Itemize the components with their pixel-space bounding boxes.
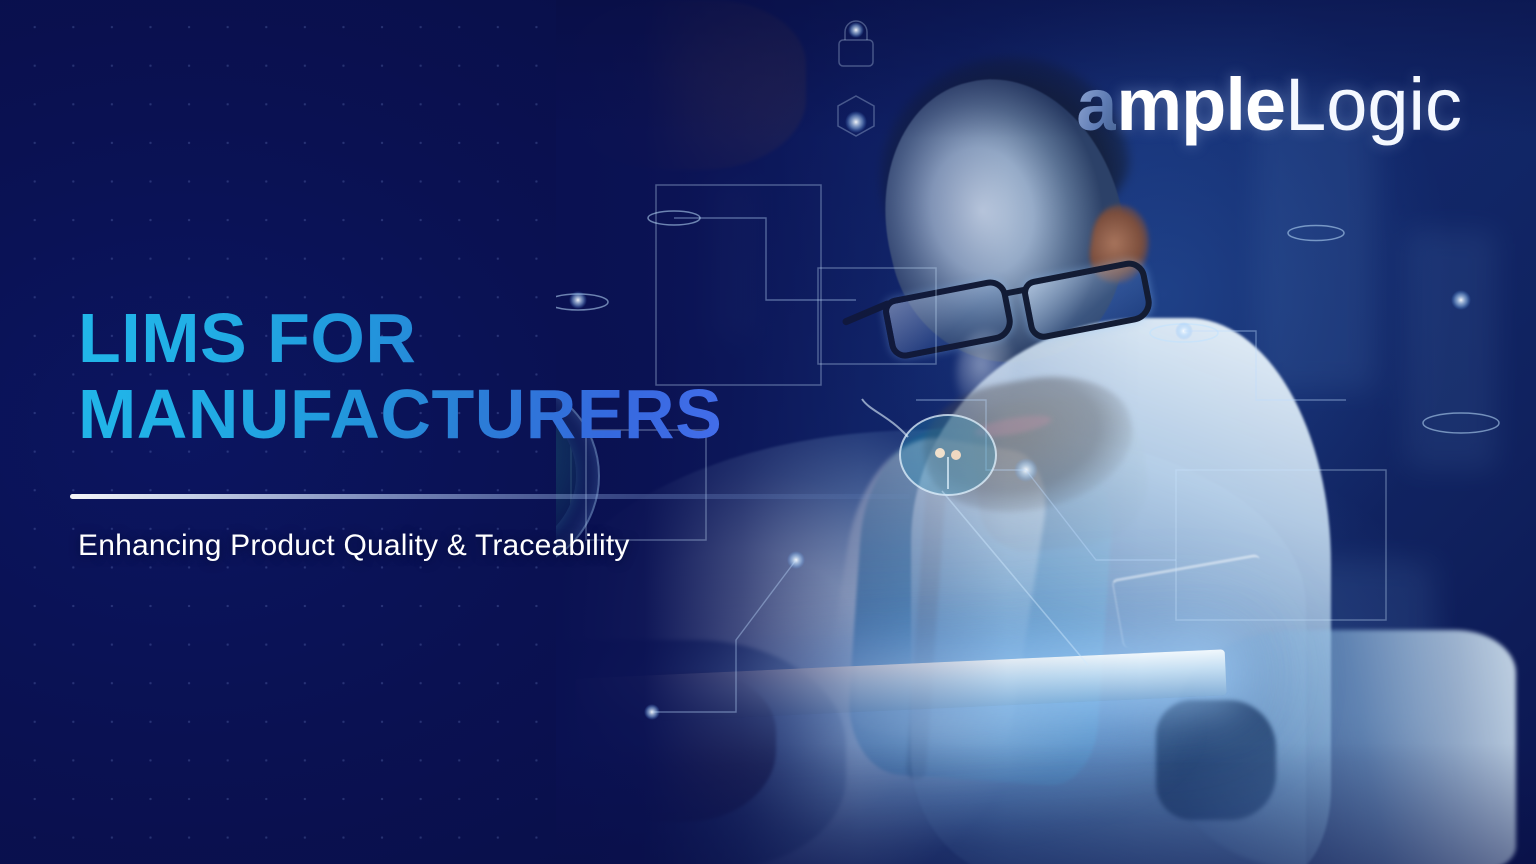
amplelogic-logo[interactable]: ampleLogic — [1076, 68, 1462, 142]
page-title: LIMS FOR MANUFACTURERS — [78, 301, 778, 452]
headline-line-2: MANUFACTURERS — [78, 377, 778, 453]
title-divider — [70, 494, 910, 499]
logo-a-mark: a — [1076, 63, 1116, 146]
hero-content: LIMS FOR MANUFACTURERS Enhancing Product… — [0, 0, 820, 864]
logo-mple-text: mple — [1116, 63, 1285, 146]
glasses-lens-right — [1020, 258, 1156, 343]
hero-banner: LIMS FOR MANUFACTURERS Enhancing Product… — [0, 0, 1536, 864]
headline-line-1: LIMS FOR — [78, 299, 416, 377]
logo-logic-text: Logic — [1285, 63, 1462, 146]
subtitle: Enhancing Product Quality & Traceability — [78, 529, 820, 563]
